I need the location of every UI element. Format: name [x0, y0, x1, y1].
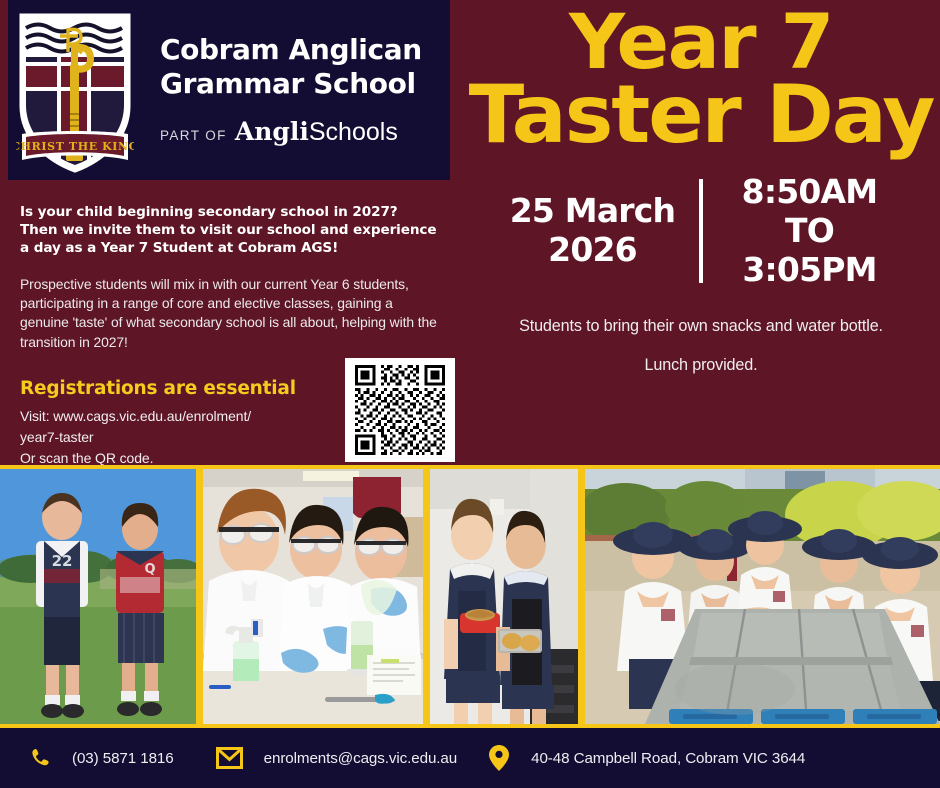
event-note-lunch: Lunch provided.	[486, 356, 916, 376]
map-pin-icon	[488, 744, 510, 772]
photo-sports-oval: 22 Q	[0, 465, 203, 728]
school-name-block: Cobram Anglican Grammar School PART OF A…	[160, 33, 422, 147]
photo-strip: 22 Q	[0, 465, 940, 728]
registration-url-line1: Visit: www.cags.vic.edu.au/enrolment/	[20, 406, 330, 427]
footer-address[interactable]: 40-48 Campbell Road, Cobram VIC 3644	[488, 744, 805, 772]
photo-picnic-table	[585, 465, 940, 728]
registration-details: Visit: www.cags.vic.edu.au/enrolment/ ye…	[20, 406, 330, 469]
left-column: CHRIST THE KING Cobram Anglican Grammar …	[0, 0, 458, 465]
promo-copy-panel: Is your child beginning secondary school…	[0, 187, 458, 465]
part-of-anglischools: PART OF AngliSchools	[160, 117, 422, 147]
anglischools-a: Angli	[235, 117, 309, 146]
svg-text:22: 22	[52, 552, 73, 570]
footer-email-text: enrolments@cags.vic.edu.au	[264, 750, 457, 767]
event-notes: Students to bring their own snacks and w…	[462, 317, 940, 376]
poster-root: CHRIST THE KING Cobram Anglican Grammar …	[0, 0, 940, 788]
school-name-line1: Cobram Anglican	[160, 33, 422, 67]
footer-phone[interactable]: (03) 5871 1816	[28, 746, 174, 770]
headline-line2: Taster Day	[457, 77, 940, 152]
promo-lead-text: Is your child beginning secondary school…	[20, 203, 438, 258]
right-column: Year 7 Taster Day 25 March 2026 8:50AM T…	[462, 0, 940, 465]
phone-icon	[28, 746, 52, 770]
datetime-divider	[699, 179, 703, 284]
anglischools-b: Schools	[309, 118, 398, 146]
footer-address-text: 40-48 Campbell Road, Cobram VIC 3644	[531, 750, 805, 767]
poster-headline: Year 7 Taster Day	[457, 0, 940, 153]
qr-code[interactable]	[345, 358, 455, 462]
promo-body-text: Prospective students will mix in with ou…	[20, 275, 438, 352]
footer-email[interactable]: enrolments@cags.vic.edu.au	[216, 747, 457, 769]
photo-food-tech	[430, 465, 585, 728]
registration-url-line2: year7-taster	[20, 427, 330, 448]
event-date: 25 March 2026	[490, 173, 695, 290]
contact-footer: (03) 5871 1816 enrolments@cags.vic.edu.a…	[0, 728, 940, 788]
part-of-label: PART OF	[160, 128, 227, 143]
event-time: 8:50AM TO 3:05PM	[707, 173, 912, 290]
school-logo-panel: CHRIST THE KING Cobram Anglican Grammar …	[8, 0, 450, 180]
photo-science-lab	[203, 465, 430, 728]
anglischools-wordmark: AngliSchools	[235, 117, 398, 147]
svg-text:Q: Q	[144, 562, 155, 577]
envelope-icon	[216, 747, 243, 769]
event-note-snacks: Students to bring their own snacks and w…	[486, 317, 916, 337]
crest-motto: CHRIST THE KING	[16, 140, 134, 153]
event-datetime: 25 March 2026 8:50AM TO 3:05PM	[462, 173, 940, 290]
footer-phone-text: (03) 5871 1816	[72, 750, 174, 767]
school-name-line2: Grammar School	[160, 67, 422, 101]
school-crest-icon: CHRIST THE KING	[16, 10, 134, 175]
